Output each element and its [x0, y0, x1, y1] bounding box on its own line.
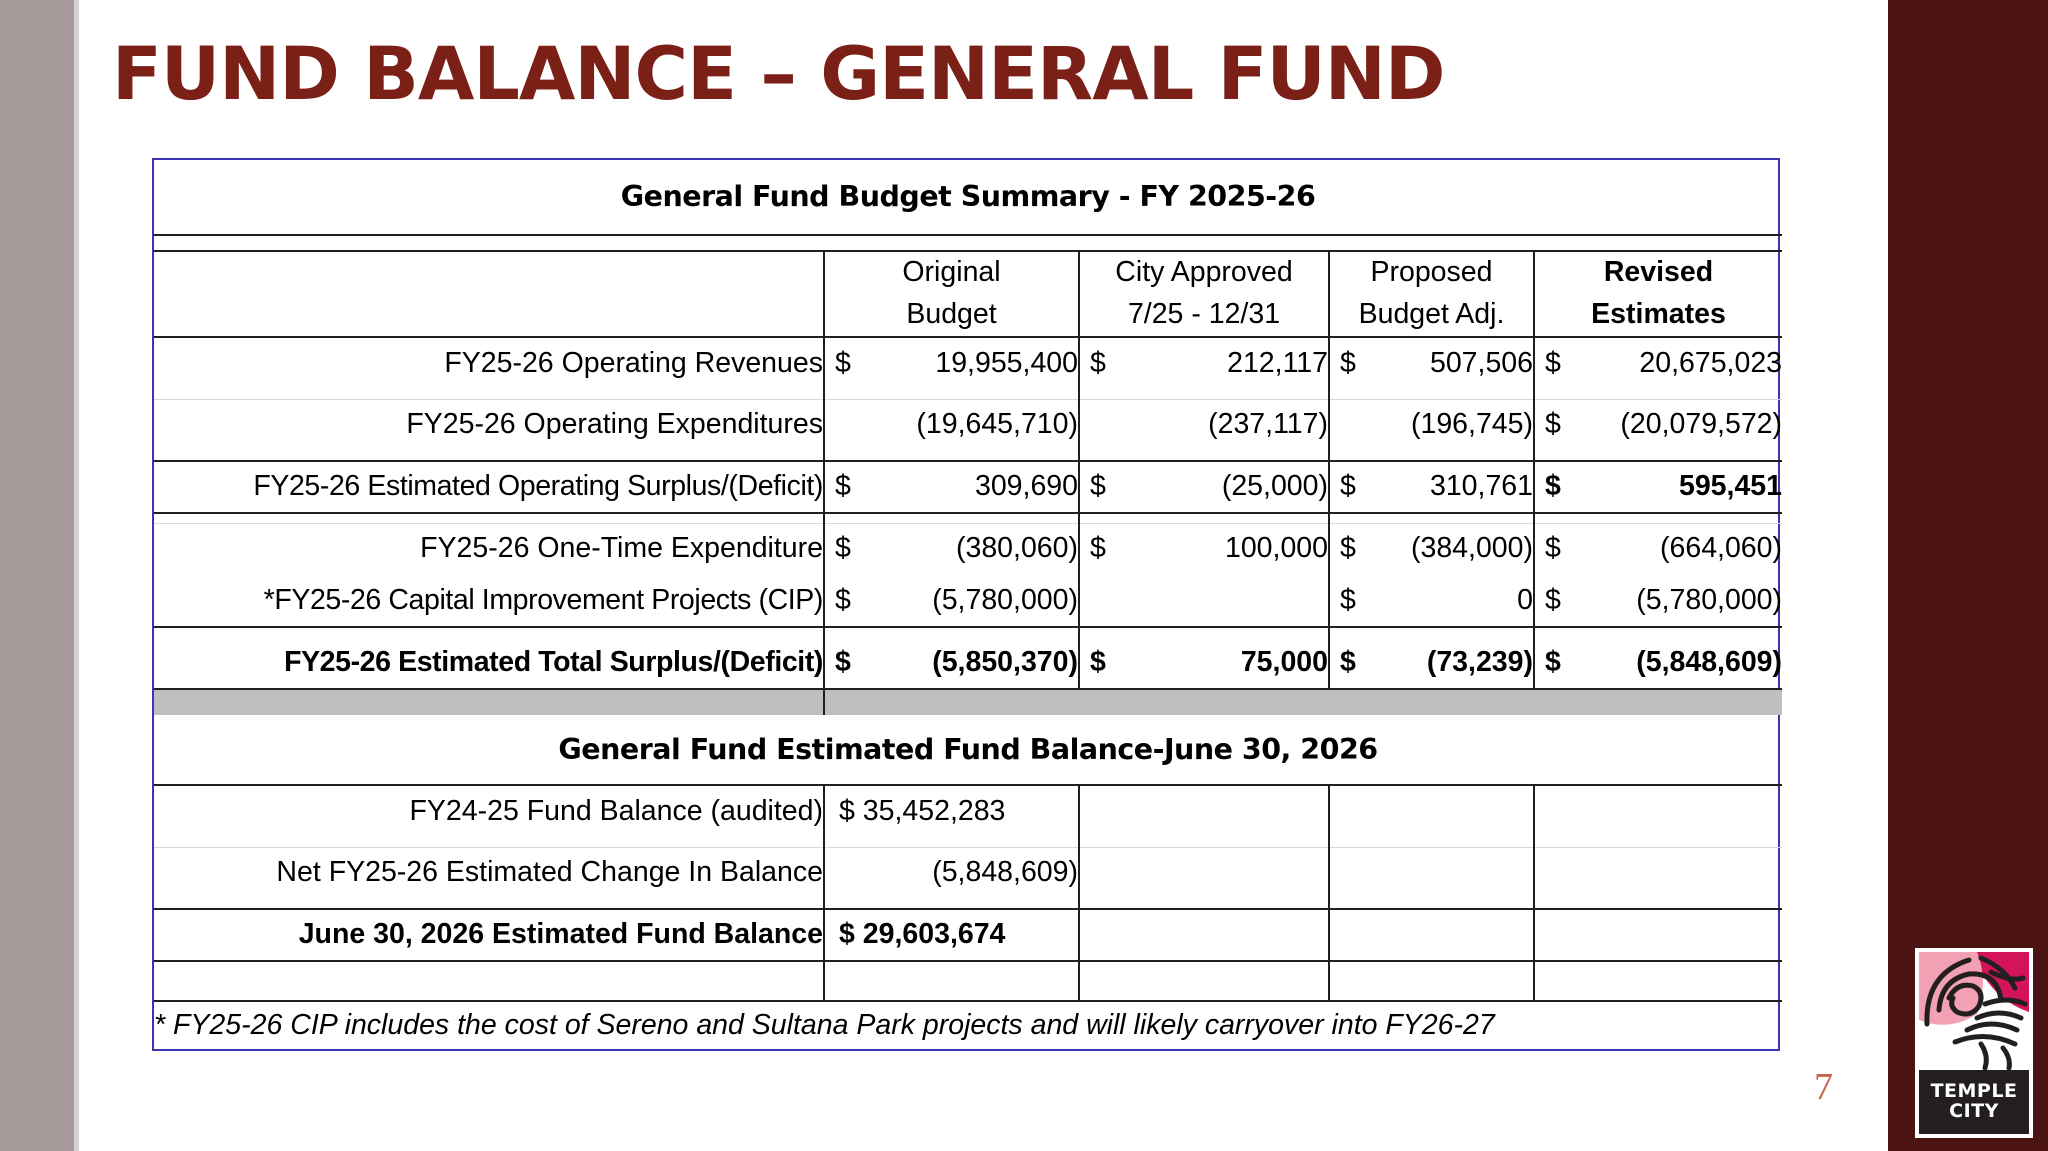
- band-cell: [824, 689, 1079, 715]
- band-cell: [1329, 689, 1534, 715]
- spacer-cell: [824, 389, 1079, 399]
- spacer-cell: [1329, 451, 1534, 461]
- spacer-cell: [154, 451, 824, 461]
- spacer-cell: [154, 235, 824, 251]
- column-header-proposed-line2: Budget Adj.: [1329, 294, 1534, 337]
- spacer-cell: [1534, 451, 1782, 461]
- value-text: (380,060): [956, 532, 1078, 564]
- table-row: FY25-26 Estimated Operating Surplus/(Def…: [154, 461, 1782, 513]
- temple-city-logo: TEMPLE CITY: [1915, 948, 2033, 1138]
- row-value-revised: $595,451: [1534, 461, 1782, 513]
- band-cell: [154, 689, 824, 715]
- table-row: FY25-26 Operating Expenditures (19,645,7…: [154, 399, 1782, 451]
- column-header-original-line1: Original: [824, 251, 1079, 294]
- value-text: 75,000: [1241, 646, 1328, 678]
- table-row: FY25-26 Operating Revenues $19,955,400 $…: [154, 337, 1782, 389]
- page-title: FUND BALANCE – GENERAL FUND: [112, 32, 1444, 117]
- row-value-revised: $(664,060): [1534, 523, 1782, 575]
- spacer-cell: [1329, 627, 1534, 637]
- spacer-cell: [824, 837, 1079, 847]
- row-value-proposed: $0: [1329, 575, 1534, 627]
- value-text: 100,000: [1225, 532, 1328, 564]
- value-text: 309,690: [975, 470, 1078, 502]
- table-row: *FY25-26 Capital Improvement Projects (C…: [154, 575, 1782, 627]
- row-value-proposed: (196,745): [1329, 399, 1534, 451]
- logo-line-2: CITY: [1949, 1102, 1999, 1122]
- value-text: (20,079,572): [1620, 408, 1782, 440]
- currency-symbol: $: [825, 586, 851, 616]
- empty-cell: [1329, 785, 1534, 837]
- empty-cell: [1534, 785, 1782, 837]
- row-value-proposed: $310,761: [1329, 461, 1534, 513]
- row-value: (5,848,609): [824, 847, 1079, 899]
- row-label: Net FY25-26 Estimated Change In Balance: [154, 847, 824, 899]
- spacer-row: [154, 451, 1782, 461]
- spacer-cell: [1329, 899, 1534, 909]
- row-value-approved: (237,117): [1079, 399, 1329, 451]
- row-label: FY25-26 Estimated Operating Surplus/(Def…: [154, 461, 824, 513]
- row-value-revised: $(5,780,000): [1534, 575, 1782, 627]
- row-label: *FY25-26 Capital Improvement Projects (C…: [154, 575, 824, 627]
- currency-symbol: $: [1535, 586, 1561, 616]
- header-blank-cell: [154, 294, 824, 337]
- column-header-row-2: Budget 7/25 - 12/31 Budget Adj. Estimate…: [154, 294, 1782, 337]
- row-value-approved: $75,000: [1079, 637, 1329, 689]
- section1-title-row: General Fund Budget Summary - FY 2025-26: [154, 160, 1782, 235]
- empty-cell: [1534, 847, 1782, 899]
- column-header-proposed-line1: Proposed: [1329, 251, 1534, 294]
- spacer-row: [154, 235, 1782, 251]
- spacer-cell: [154, 899, 824, 909]
- value-text: (237,117): [1208, 408, 1328, 440]
- currency-symbol: $: [1535, 648, 1561, 678]
- currency-symbol: $: [1535, 410, 1561, 440]
- row-label: FY25-26 One-Time Expenditure: [154, 523, 824, 575]
- currency-symbol: $: [1535, 349, 1561, 379]
- row-value-approved: $(25,000): [1079, 461, 1329, 513]
- blank-cell: [824, 961, 1079, 1001]
- row-value-original: $309,690: [824, 461, 1079, 513]
- rose-logo-icon: [1919, 952, 2029, 1070]
- spacer-row: [154, 513, 1782, 523]
- footnote-empty-cell: [1534, 1001, 1782, 1049]
- currency-symbol: $: [825, 349, 851, 379]
- row-label: June 30, 2026 Estimated Fund Balance: [154, 909, 824, 961]
- value-text: (196,745): [1411, 408, 1533, 440]
- value-text: (5,850,370): [932, 646, 1078, 678]
- spacer-cell: [824, 899, 1079, 909]
- band-cell: [1079, 689, 1329, 715]
- column-header-approved-line1: City Approved: [1079, 251, 1329, 294]
- value-text: 595,451: [1679, 470, 1782, 502]
- spacer-cell: [154, 389, 824, 399]
- budget-summary-table: General Fund Budget Summary - FY 2025-26…: [152, 158, 1780, 1051]
- logo-wordmark: TEMPLE CITY: [1919, 1070, 2029, 1134]
- row-label: FY25-26 Estimated Total Surplus/(Deficit…: [154, 637, 824, 689]
- column-header-approved-line2: 7/25 - 12/31: [1079, 294, 1329, 337]
- row-value-revised: $20,675,023: [1534, 337, 1782, 389]
- empty-cell: [1079, 847, 1329, 899]
- spacer-cell: [1079, 235, 1329, 251]
- section2-title: General Fund Estimated Fund Balance-June…: [154, 715, 1782, 785]
- logo-line-1: TEMPLE: [1931, 1082, 2018, 1102]
- spacer-cell: [1534, 389, 1782, 399]
- spacer-cell: [1079, 837, 1329, 847]
- currency-symbol: $: [1330, 586, 1356, 616]
- currency-symbol: $: [825, 472, 851, 502]
- empty-cell: [1329, 909, 1534, 961]
- currency-symbol: $: [1330, 534, 1356, 564]
- page-number: 7: [1814, 1065, 1833, 1109]
- table-row-total: FY25-26 Estimated Total Surplus/(Deficit…: [154, 637, 1782, 689]
- spacer-cell: [1534, 627, 1782, 637]
- spacer-cell: [1329, 235, 1534, 251]
- row-value: $ 29,603,674: [824, 909, 1079, 961]
- currency-symbol: $: [1080, 534, 1106, 564]
- value-text: 20,675,023: [1639, 347, 1782, 379]
- spacer-cell: [1079, 513, 1329, 523]
- table-row-balance: FY24-25 Fund Balance (audited) $ 35,452,…: [154, 785, 1782, 837]
- currency-symbol: $: [1330, 648, 1356, 678]
- blank-cell: [1329, 961, 1534, 1001]
- row-value-original: $(5,780,000): [824, 575, 1079, 627]
- row-value-original: $19,955,400: [824, 337, 1079, 389]
- row-value-original: $(380,060): [824, 523, 1079, 575]
- empty-cell: [1329, 847, 1534, 899]
- row-label: FY25-26 Operating Expenditures: [154, 399, 824, 451]
- row-value-proposed: $507,506: [1329, 337, 1534, 389]
- spacer-cell: [1329, 389, 1534, 399]
- table-row-balance-final: June 30, 2026 Estimated Fund Balance $ 2…: [154, 909, 1782, 961]
- spacer-row: [154, 837, 1782, 847]
- value-text: (664,060): [1660, 532, 1782, 564]
- spacer-row: [154, 899, 1782, 909]
- spacer-cell: [1079, 389, 1329, 399]
- currency-symbol: $: [1080, 349, 1106, 379]
- value-text: 19,955,400: [935, 347, 1078, 379]
- spacer-cell: [1534, 837, 1782, 847]
- spacer-cell: [1079, 627, 1329, 637]
- spacer-cell: [1534, 899, 1782, 909]
- header-blank-cell: [154, 251, 824, 294]
- spacer-cell: [824, 451, 1079, 461]
- spacer-cell: [154, 837, 824, 847]
- row-value-approved: [1079, 575, 1329, 627]
- spacer-cell: [824, 235, 1079, 251]
- empty-cell: [1079, 785, 1329, 837]
- spacer-cell: [824, 627, 1079, 637]
- value-text: (384,000): [1411, 532, 1533, 564]
- spacer-cell: [1534, 235, 1782, 251]
- currency-symbol: $: [1080, 472, 1106, 502]
- blank-cell: [1534, 961, 1782, 1001]
- left-decorative-strip: [0, 0, 74, 1151]
- grey-divider-band: [154, 689, 1782, 715]
- currency-symbol: $: [825, 534, 851, 564]
- value-text: (5,780,000): [1636, 584, 1782, 616]
- column-header-revised-line2: Estimates: [1534, 294, 1782, 337]
- table-row: FY25-26 One-Time Expenditure $(380,060) …: [154, 523, 1782, 575]
- blank-cell: [154, 961, 824, 1001]
- column-header-original-line2: Budget: [824, 294, 1079, 337]
- currency-symbol: $: [1535, 472, 1561, 502]
- footnote-text: * FY25-26 CIP includes the cost of Seren…: [154, 1001, 1534, 1049]
- currency-symbol: $: [1535, 534, 1561, 564]
- section2-title-row: General Fund Estimated Fund Balance-June…: [154, 715, 1782, 785]
- value-text: 507,506: [1430, 347, 1533, 379]
- row-value: $ 35,452,283: [824, 785, 1079, 837]
- column-header-revised-line1: Revised: [1534, 251, 1782, 294]
- empty-cell: [1534, 909, 1782, 961]
- spacer-cell: [824, 513, 1079, 523]
- left-strip-edge: [74, 0, 79, 1151]
- footnote-row: * FY25-26 CIP includes the cost of Seren…: [154, 1001, 1782, 1049]
- spacer-cell: [1329, 513, 1534, 523]
- table-row-balance: Net FY25-26 Estimated Change In Balance …: [154, 847, 1782, 899]
- value-text: (25,000): [1222, 470, 1328, 502]
- row-value-original: $(5,850,370): [824, 637, 1079, 689]
- spacer-cell: [1079, 451, 1329, 461]
- row-value-proposed: $(73,239): [1329, 637, 1534, 689]
- band-cell: [1534, 689, 1782, 715]
- slide-canvas: FUND BALANCE – GENERAL FUND General Fund…: [0, 0, 2048, 1151]
- spacer-cell: [1329, 837, 1534, 847]
- row-value-proposed: $(384,000): [1329, 523, 1534, 575]
- row-value-approved: $212,117: [1079, 337, 1329, 389]
- value-text: (73,239): [1427, 646, 1533, 678]
- row-label: FY25-26 Operating Revenues: [154, 337, 824, 389]
- right-strip-edge: [1884, 0, 1888, 1151]
- value-text: 310,761: [1430, 470, 1533, 502]
- spacer-cell: [154, 513, 824, 523]
- row-value-revised: $(20,079,572): [1534, 399, 1782, 451]
- row-label: FY24-25 Fund Balance (audited): [154, 785, 824, 837]
- value-text: 0: [1517, 584, 1533, 616]
- value-text: (5,848,609): [1636, 646, 1782, 678]
- spacer-cell: [1079, 899, 1329, 909]
- row-value-original: (19,645,710): [824, 399, 1079, 451]
- column-header-row-1: Original City Approved Proposed Revised: [154, 251, 1782, 294]
- blank-row: [154, 961, 1782, 1001]
- empty-cell: [1079, 909, 1329, 961]
- row-value-approved: $100,000: [1079, 523, 1329, 575]
- currency-symbol: $: [825, 648, 851, 678]
- value-text: (19,645,710): [916, 408, 1078, 440]
- spacer-row: [154, 389, 1782, 399]
- rose-logo-svg: [1919, 952, 2029, 1070]
- value-text: (5,780,000): [932, 584, 1078, 616]
- currency-symbol: $: [1330, 472, 1356, 502]
- value-text: 212,117: [1227, 347, 1328, 379]
- blank-cell: [1079, 961, 1329, 1001]
- currency-symbol: $: [1330, 349, 1356, 379]
- currency-symbol: $: [1080, 648, 1106, 678]
- spacer-row: [154, 627, 1782, 637]
- row-value-revised: $(5,848,609): [1534, 637, 1782, 689]
- spacer-cell: [154, 627, 824, 637]
- spacer-cell: [1534, 513, 1782, 523]
- section1-title: General Fund Budget Summary - FY 2025-26: [154, 160, 1782, 235]
